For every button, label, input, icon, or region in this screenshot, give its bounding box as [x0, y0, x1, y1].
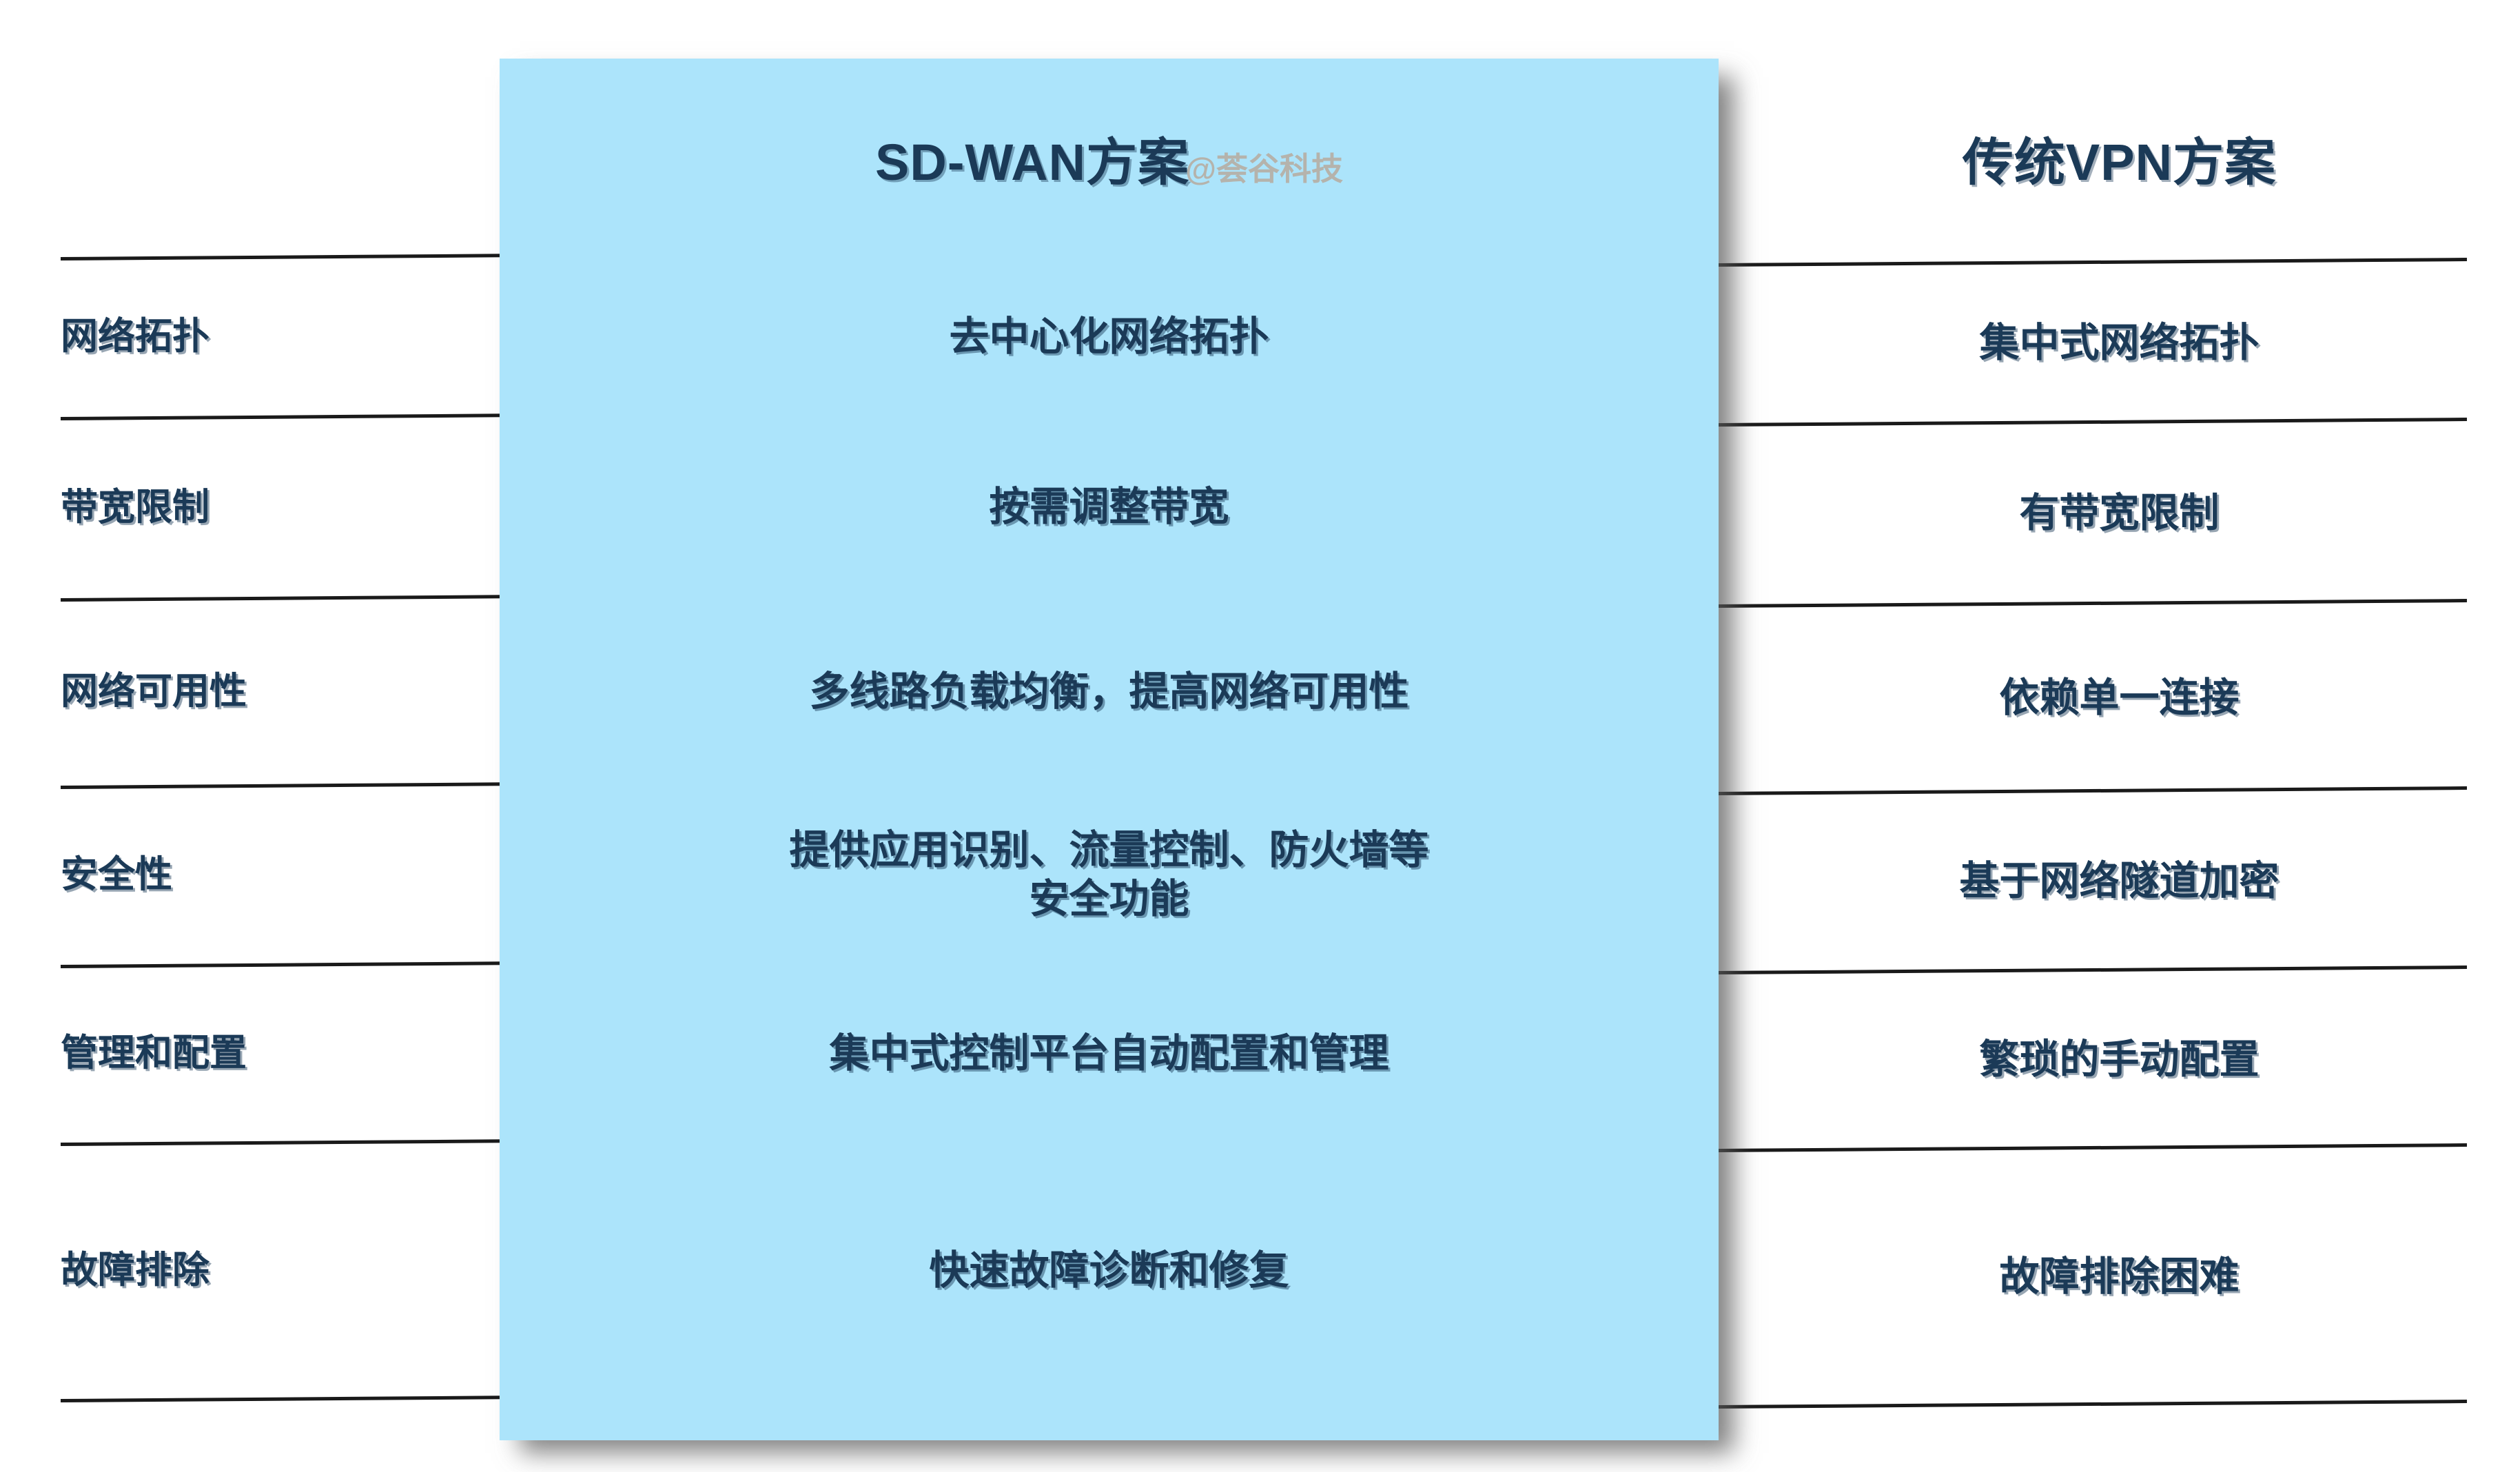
feature-column-header [0, 59, 500, 257]
vpn-cell-bandwidth-limit: 有带宽限制 [1719, 423, 2520, 604]
sdwan-value: 提供应用识别、流量控制、防火墙等 安全功能 [789, 826, 1428, 924]
sdwan-cell-network-topology: 去中心化网络拓扑 [500, 257, 1719, 417]
feature-label: 管理和配置 [61, 1031, 247, 1076]
feature-label: 故障排除 [61, 1248, 209, 1294]
feature-cell-bandwidth-limit: 带宽限制 [0, 417, 500, 598]
vpn-value: 故障排除困难 [1999, 1253, 2239, 1302]
vpn-value: 基于网络隧道加密 [1959, 857, 2279, 906]
sdwan-value: 集中式控制平台自动配置和管理 [829, 1030, 1389, 1079]
vpn-cell-network-topology: 集中式网络拓扑 [1719, 263, 2520, 423]
sdwan-value: 多线路负载均衡，提高网络可用性 [809, 668, 1408, 717]
vpn-value: 有带宽限制 [2019, 489, 2219, 538]
feature-label: 带宽限制 [61, 485, 209, 531]
feature-cell-management-config: 管理和配置 [0, 965, 500, 1143]
feature-cell-security: 安全性 [0, 786, 500, 965]
sdwan-value: 快速故障诊断和修复 [929, 1247, 1289, 1296]
vpn-column: 传统VPN方案 集中式网络拓扑 有带宽限制 依赖单一连接 基于网络隧道加密 繁琐… [1719, 0, 2520, 1472]
vpn-cell-network-availability: 依赖单一连接 [1719, 604, 2520, 792]
watermark-text: @荟谷科技 [1185, 144, 1343, 190]
feature-cell-troubleshooting: 故障排除 [0, 1143, 500, 1399]
sdwan-column-header: SD-WAN方案@荟谷科技 [500, 59, 1719, 257]
sdwan-cell-troubleshooting: 快速故障诊断和修复 [500, 1143, 1719, 1399]
vpn-header-label: 传统VPN方案 [1963, 121, 2276, 195]
feature-cell-network-availability: 网络可用性 [0, 598, 500, 786]
comparison-table: 网络拓扑 带宽限制 网络可用性 安全性 管理和配置 故障排除 SD-WAN方案@… [0, 0, 2520, 1472]
sdwan-cell-network-availability: 多线路负载均衡，提高网络可用性 [500, 598, 1719, 786]
sdwan-value: 按需调整带宽 [989, 483, 1229, 532]
sdwan-cell-security: 提供应用识别、流量控制、防火墙等 安全功能 [500, 786, 1719, 965]
sdwan-value: 去中心化网络拓扑 [949, 313, 1269, 362]
vpn-value: 依赖单一连接 [1999, 674, 2239, 723]
vpn-column-header: 传统VPN方案 [1719, 59, 2520, 257]
sdwan-cell-bandwidth-limit: 按需调整带宽 [500, 417, 1719, 598]
sdwan-column: SD-WAN方案@荟谷科技 去中心化网络拓扑 按需调整带宽 多线路负载均衡，提高… [500, 0, 1719, 1472]
vpn-value: 繁琐的手动配置 [1979, 1036, 2259, 1085]
feature-column: 网络拓扑 带宽限制 网络可用性 安全性 管理和配置 故障排除 [0, 0, 500, 1472]
vpn-cell-troubleshooting: 故障排除困难 [1719, 1149, 2520, 1405]
vpn-cell-management-config: 繁琐的手动配置 [1719, 971, 2520, 1149]
feature-label: 网络可用性 [61, 669, 247, 715]
feature-label: 安全性 [61, 852, 172, 898]
feature-cell-network-topology: 网络拓扑 [0, 257, 500, 417]
vpn-value: 集中式网络拓扑 [1979, 319, 2259, 368]
feature-label: 网络拓扑 [61, 314, 209, 360]
sdwan-cell-management-config: 集中式控制平台自动配置和管理 [500, 965, 1719, 1143]
sdwan-header-text: SD-WAN方案@荟谷科技 [875, 121, 1343, 195]
sdwan-header-label: SD-WAN方案 [875, 121, 1189, 195]
vpn-cell-security: 基于网络隧道加密 [1719, 792, 2520, 971]
